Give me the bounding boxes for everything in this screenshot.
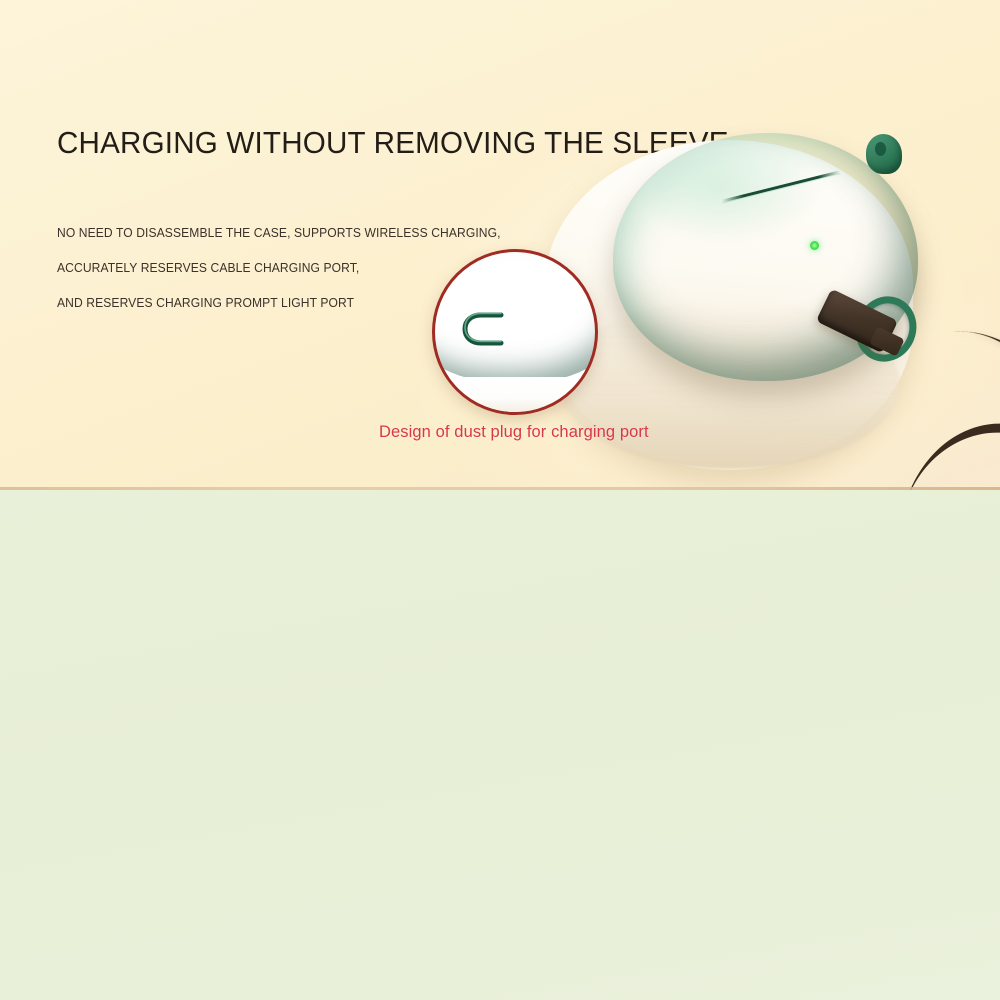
magnifier-white-base [435, 377, 595, 412]
panel-charging-without-removing: CHARGING WITHOUT REMOVING THE SLEEVE NO … [0, 0, 1000, 490]
product-infographic: CHARGING WITHOUT REMOVING THE SLEEVE NO … [0, 0, 1000, 1000]
top-panel-body: NO NEED TO DISASSEMBLE THE CASE, SUPPORT… [57, 226, 487, 331]
top-panel-headline: CHARGING WITHOUT REMOVING THE SLEEVE [57, 126, 729, 161]
dust-plug-magnifier-circle [432, 249, 598, 415]
dust-plug-icon [461, 310, 519, 348]
panel-support-wireless-charging: SUPPORT WIRELESS CHARGING PUT IT DOWN AN… [0, 490, 1000, 1000]
top-body-line-2: ACCURATELY RESERVES CABLE CHARGING PORT, [57, 261, 470, 275]
green-case-led-indicator [810, 241, 819, 250]
top-body-line-1: NO NEED TO DISASSEMBLE THE CASE, SUPPORT… [57, 226, 470, 240]
top-body-line-3: AND RESERVES CHARGING PROMPT LIGHT PORT [57, 296, 470, 310]
dust-plug-caption: Design of dust plug for charging port [379, 423, 649, 442]
